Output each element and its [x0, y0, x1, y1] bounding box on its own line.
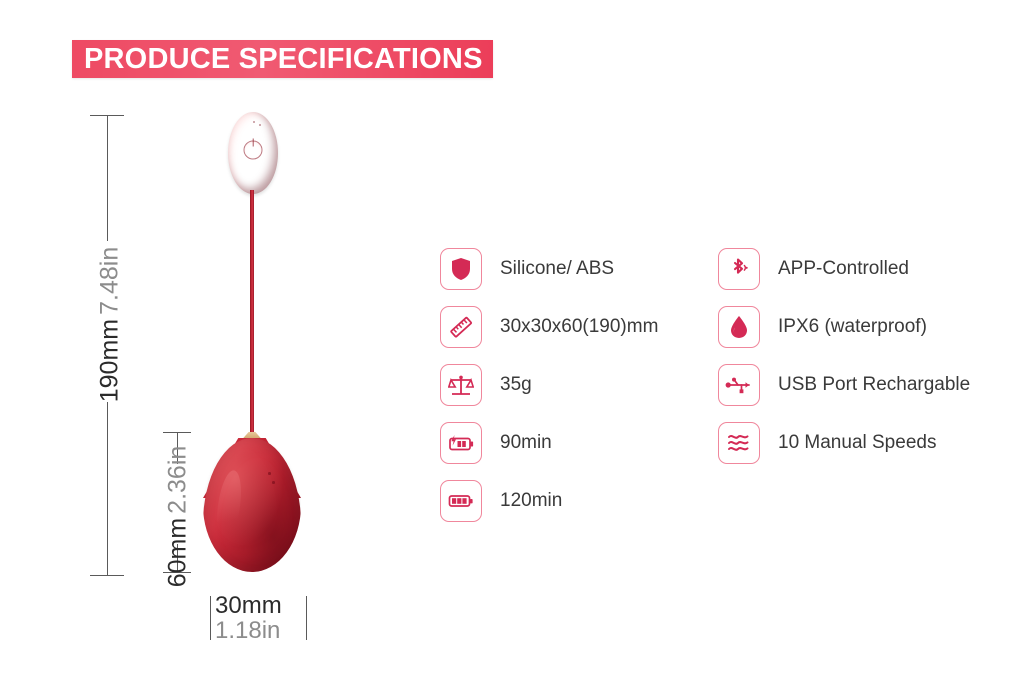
spec-item-speeds: 10 Manual Speeds [718, 414, 970, 472]
spec-item-charge-time: 90min [440, 414, 658, 472]
spec-item-usb: USB Port Rechargable [718, 356, 970, 414]
power-button-icon [244, 140, 263, 159]
spec-label-run-time: 120min [500, 490, 562, 512]
height-dim-line-lower [107, 402, 108, 575]
width-dimension-label: 30mm 1.18in [215, 594, 282, 644]
height-dimension-label: 190mm 7.48in [96, 263, 125, 387]
spec-column-right: APP-Controlled IPX6 (waterproof) USB Por… [718, 240, 970, 472]
controller-body [228, 112, 278, 194]
body-dimension-label: 60mm 2.36in [164, 461, 193, 573]
width-dim-mm: 30mm [215, 594, 282, 619]
height-dim-cap-bottom [90, 575, 124, 576]
egg-speck [272, 481, 275, 484]
spec-label-material: Silicone/ ABS [500, 258, 614, 280]
product-illustration: 190mm 7.48in 60mm 2.36in 30mm 1.18in [0, 0, 430, 674]
battery-full-icon [440, 480, 482, 522]
product-cord [250, 190, 254, 440]
width-dim-cap-right [306, 596, 307, 640]
spec-item-weight: 35g [440, 356, 658, 414]
bluetooth-icon [718, 248, 760, 290]
spec-item-material: Silicone/ ABS [440, 240, 658, 298]
spec-item-size: 30x30x60(190)mm [440, 298, 658, 356]
spec-label-app-control: APP-Controlled [778, 258, 909, 280]
spec-column-left: Silicone/ ABS 30x30x60(190)mm [440, 240, 658, 530]
ruler-icon [440, 306, 482, 348]
spec-item-app-control: APP-Controlled [718, 240, 970, 298]
spec-label-size: 30x30x60(190)mm [500, 316, 658, 338]
spec-label-usb: USB Port Rechargable [778, 374, 970, 396]
scale-icon [440, 364, 482, 406]
spec-label-waterproof: IPX6 (waterproof) [778, 316, 927, 338]
battery-charging-icon [440, 422, 482, 464]
spec-label-weight: 35g [500, 374, 532, 396]
controller-speck [253, 121, 255, 123]
shield-icon [440, 248, 482, 290]
egg-speck [268, 472, 271, 475]
usb-icon [718, 364, 760, 406]
water-drop-icon [718, 306, 760, 348]
spec-label-speeds: 10 Manual Speeds [778, 432, 936, 454]
body-dim-mm: 60mm [164, 518, 193, 587]
width-dim-cap-left [210, 596, 211, 640]
controller-speck [259, 124, 261, 126]
height-dim-mm: 190mm [96, 319, 125, 402]
waves-icon [718, 422, 760, 464]
body-dim-in: 2.36in [164, 446, 193, 514]
width-dim-in: 1.18in [215, 619, 282, 644]
spec-label-charge-time: 90min [500, 432, 552, 454]
spec-item-waterproof: IPX6 (waterproof) [718, 298, 970, 356]
height-dim-in: 7.48in [96, 247, 125, 315]
height-dim-line [107, 115, 108, 241]
spec-item-run-time: 120min [440, 472, 658, 530]
